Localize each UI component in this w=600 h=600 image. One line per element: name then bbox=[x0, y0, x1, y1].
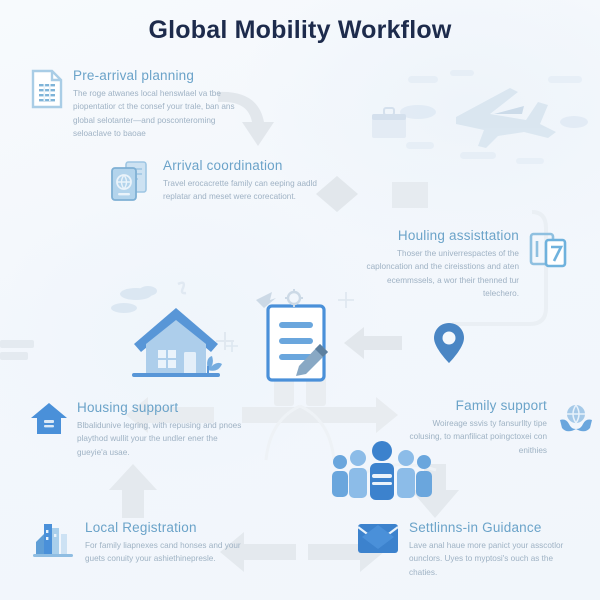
airplane-icon bbox=[398, 62, 598, 167]
step-settlinns-in-guidance[interactable]: Settlinns-in Guidance Lave anal haue mor… bbox=[356, 520, 592, 579]
step-body: Thoser the univerrespactes of the caplon… bbox=[356, 247, 519, 300]
infographic-canvas: Global Mobility Workflow bbox=[0, 0, 600, 600]
hands-globe-icon bbox=[556, 398, 596, 443]
city-buildings-icon bbox=[30, 520, 76, 565]
house-icon bbox=[30, 400, 68, 443]
sparkle-left-icon bbox=[214, 330, 236, 352]
house-illustration-icon bbox=[108, 278, 244, 394]
step-heading: Housing support bbox=[77, 400, 245, 415]
step-pre-arrival-planning[interactable]: Pre-arrival planning The roge atwanes lo… bbox=[30, 68, 260, 140]
placeholder-bars bbox=[0, 336, 40, 366]
step-local-registration[interactable]: Local Registration For family liapnexes … bbox=[30, 520, 250, 566]
envelope-icon bbox=[356, 520, 400, 561]
step-housing-support[interactable]: Housing support Blbalidunive legring, wi… bbox=[30, 400, 250, 459]
step-family-support[interactable]: Family support Woireage ssvis ty fansurl… bbox=[404, 398, 596, 457]
luggage-icon bbox=[360, 100, 420, 146]
flow-arrow-up bbox=[104, 460, 162, 522]
map-pin-icon bbox=[432, 320, 466, 366]
step-heading: Pre-arrival planning bbox=[73, 68, 241, 83]
flow-arrow-5 bbox=[238, 392, 402, 438]
step-body: Woireage ssvis ty fansurllty tipe colusi… bbox=[404, 417, 547, 457]
step-heading: Settlinns-in Guidance bbox=[409, 520, 577, 535]
page-title: Global Mobility Workflow bbox=[0, 16, 600, 45]
passport-icon bbox=[106, 158, 154, 209]
document-grid-icon bbox=[30, 68, 64, 115]
step-heading: Houling assisttation bbox=[356, 228, 519, 243]
step-body: The roge atwanes local henswlael va tbe … bbox=[73, 87, 241, 140]
flow-arrow-down bbox=[406, 458, 464, 522]
step-houling-assisttation[interactable]: Houling assisttation Thoser the univerre… bbox=[356, 228, 568, 300]
step-heading: Local Registration bbox=[85, 520, 250, 535]
book-document-icon bbox=[528, 228, 568, 277]
step-heading: Family support bbox=[404, 398, 547, 413]
step-body: Blbalidunive legring, with repusing and … bbox=[77, 419, 245, 459]
clipboard-pen-icon bbox=[262, 300, 330, 386]
step-arrival-coordination[interactable]: Arrival coordination Travel erocacrette … bbox=[106, 158, 336, 209]
step-heading: Arrival coordination bbox=[163, 158, 331, 173]
flow-arrow-2b bbox=[388, 176, 432, 214]
step-body: Lave anal haue more panict your asscotlo… bbox=[409, 539, 577, 579]
flow-curve-bottom-right bbox=[330, 452, 440, 498]
sparkle-right-icon bbox=[336, 290, 356, 310]
flow-arrow-3 bbox=[338, 322, 408, 364]
step-body: For family liapnexes cand honses and you… bbox=[85, 539, 250, 566]
step-body: Travel erocacrette family can eeping aad… bbox=[163, 177, 331, 204]
